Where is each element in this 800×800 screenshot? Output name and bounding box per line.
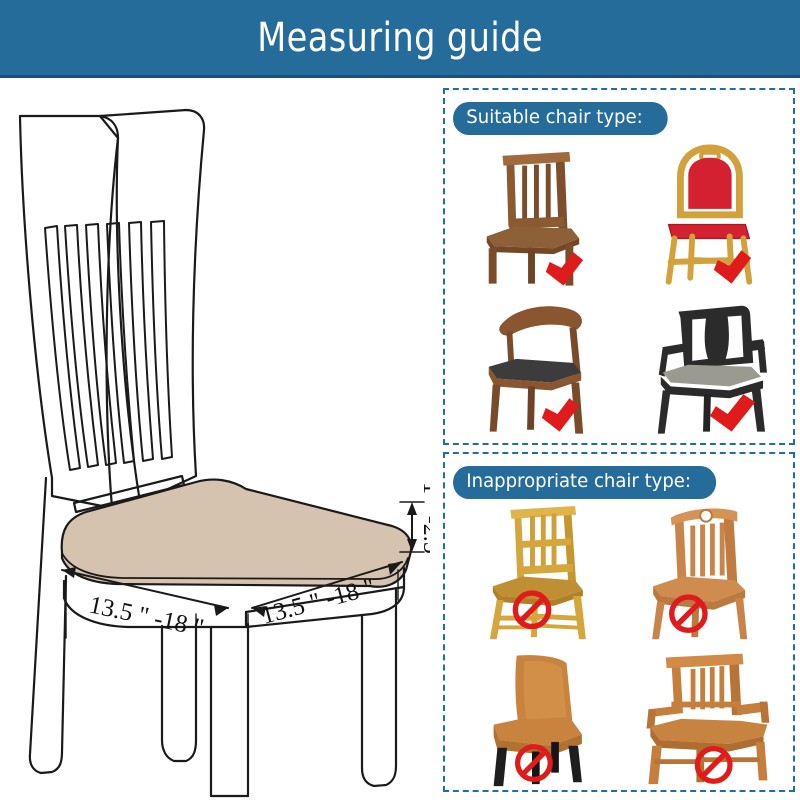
measuring-guide-page: Measuring guide — [0, 0, 800, 800]
chair-card-oak-spindle-armchair[interactable] — [619, 646, 793, 788]
chair-card-light-oak-slat-back-chair[interactable] — [619, 504, 793, 646]
red-check-arrow-icon — [546, 252, 583, 285]
chair-seat-cushion — [62, 480, 412, 587]
chair-card-wooden-spindle-back-chair[interactable] — [445, 142, 619, 292]
panel-suitable-label: Suitable chair type: — [453, 102, 667, 135]
chair-card-walnut-curved-back-chair[interactable] — [445, 292, 619, 442]
chair-card-red-gold-banquet-chair[interactable] — [619, 142, 793, 292]
inappropriate-chair-grid — [445, 504, 793, 788]
chair-leg-rear-left — [30, 478, 66, 773]
red-check-arrow-icon — [542, 398, 579, 431]
chair-card-tan-leather-parsons-chair[interactable] — [445, 646, 619, 788]
chair-leg-right — [362, 590, 396, 786]
chair-leg-front-center — [211, 624, 248, 796]
red-check-arrow-icon — [710, 394, 755, 431]
chair-card-gold-chiavari-chair[interactable] — [445, 504, 619, 646]
oak-spindle-armchair-icon — [647, 654, 770, 784]
panel-inappropriate-label: Inappropriate chair type: — [453, 466, 716, 499]
chair-measuring-diagram: 13.5 " -18 " 13.5 " -18 " 1 " -2.5 " — [0, 78, 430, 800]
chair-card-black-armchair-gray-seat[interactable] — [619, 292, 793, 442]
chair-leg-front-left — [162, 624, 196, 761]
label-thickness: 1 " -2.5 " — [418, 482, 430, 570]
suitable-chair-grid — [445, 142, 793, 441]
header-banner: Measuring guide — [0, 0, 800, 78]
light-oak-slat-back-chair-icon — [652, 509, 747, 640]
panel-inappropriate-chair-type: Inappropriate chair type: — [443, 452, 795, 792]
gold-chiavari-chair-icon — [490, 506, 586, 639]
page-title: Measuring guide — [257, 18, 543, 58]
tan-leather-parsons-chair-icon — [494, 655, 582, 786]
panel-suitable-chair-type: Suitable chair type: — [443, 88, 795, 445]
